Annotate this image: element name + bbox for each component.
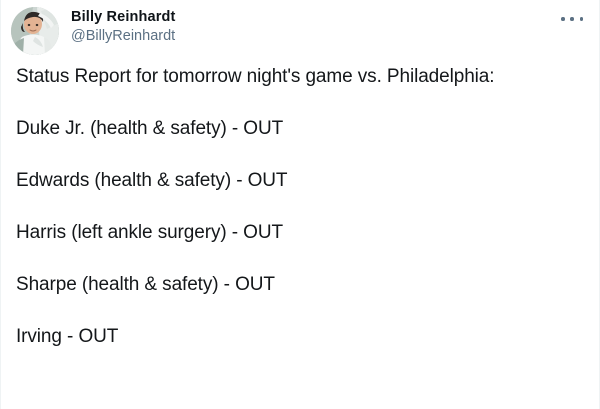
- tweet-header: Billy Reinhardt @BillyReinhardt: [1, 0, 599, 56]
- author-handle[interactable]: @BillyReinhardt: [71, 27, 176, 46]
- tweet-line-blank-2: [16, 142, 585, 168]
- avatar-photo: [11, 7, 59, 55]
- tweet-line-irving: Irving - OUT: [16, 324, 585, 350]
- more-dot-2: [570, 17, 574, 21]
- more-dot-3: [580, 17, 584, 21]
- tweet-line-blank-5: [16, 298, 585, 324]
- tweet-line-edwards: Edwards (health & safety) - OUT: [16, 168, 585, 194]
- tweet-line-status-report: Status Report for tomorrow night's game …: [16, 64, 585, 90]
- tweet-line-sharpe: Sharpe (health & safety) - OUT: [16, 272, 585, 298]
- tweet-line-harris: Harris (left ankle surgery) - OUT: [16, 220, 585, 246]
- tweet-text: Status Report for tomorrow night's game …: [1, 56, 599, 350]
- author-display-name[interactable]: Billy Reinhardt: [71, 8, 176, 27]
- avatar[interactable]: [11, 7, 59, 55]
- more-horizontal-icon[interactable]: [561, 11, 583, 27]
- tweet-line-blank-3: [16, 194, 585, 220]
- tweet-card: Billy Reinhardt @BillyReinhardt Status R…: [0, 0, 600, 409]
- tweet-line-duke-jr: Duke Jr. (health & safety) - OUT: [16, 116, 585, 142]
- tweet-line-blank-4: [16, 246, 585, 272]
- author-identity[interactable]: Billy Reinhardt @BillyReinhardt: [71, 7, 176, 46]
- more-dot-1: [561, 17, 565, 21]
- tweet-line-blank-1: [16, 90, 585, 116]
